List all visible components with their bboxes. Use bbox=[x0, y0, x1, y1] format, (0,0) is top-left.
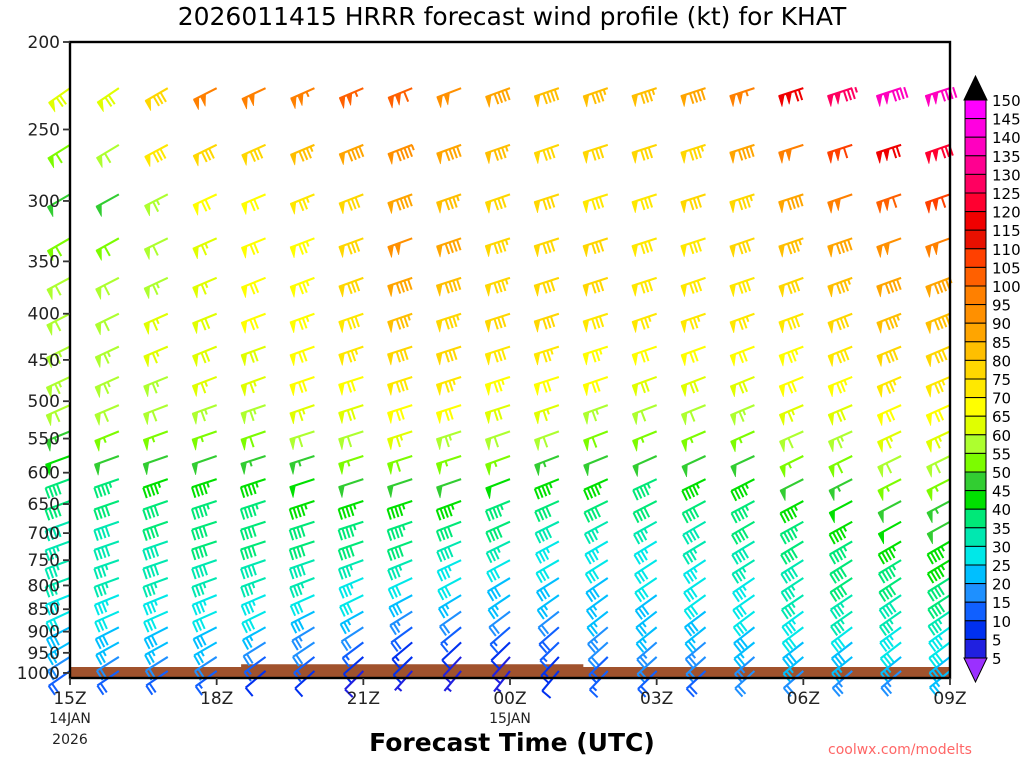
colorbar-tick-label: 145 bbox=[992, 111, 1021, 129]
pressure-tick-label: 600 bbox=[28, 464, 60, 484]
colorbar-tick-label: 85 bbox=[992, 334, 1011, 352]
colorbar-tick-label: 50 bbox=[992, 464, 1011, 482]
colorbar-tick-label: 80 bbox=[992, 352, 1011, 370]
wind-profile-chart: 2026011415 HRRR forecast wind profile (k… bbox=[0, 0, 1024, 768]
colorbar-tick-label: 15 bbox=[992, 594, 1011, 612]
pressure-tick-label: 900 bbox=[28, 623, 60, 643]
time-tick-label: 21Z bbox=[347, 689, 380, 709]
colorbar-tick-label: 150 bbox=[992, 92, 1021, 110]
colorbar-tick-label: 45 bbox=[992, 483, 1011, 501]
date-sub-label: 14JAN bbox=[49, 711, 91, 727]
pressure-tick-label: 300 bbox=[28, 192, 60, 212]
colorbar-tick-label: 25 bbox=[992, 557, 1011, 575]
wind-speed-colorbar: 1501451401351301251201151101051009590858… bbox=[964, 76, 1021, 682]
pressure-tick-label: 1000 bbox=[17, 664, 60, 684]
colorbar-tick-label: 5 bbox=[992, 650, 1002, 668]
colorbar-tick-label: 35 bbox=[992, 520, 1011, 538]
pressure-tick-label: 700 bbox=[28, 524, 60, 544]
colorbar-tick-label: 75 bbox=[992, 371, 1011, 389]
colorbar-tick-label: 115 bbox=[992, 222, 1021, 240]
time-tick-label: 03Z bbox=[640, 689, 673, 709]
colorbar-tick-label: 125 bbox=[992, 185, 1021, 203]
time-tick-label: 09Z bbox=[933, 689, 966, 709]
time-tick-label: 00Z bbox=[493, 689, 526, 709]
time-tick-label: 06Z bbox=[787, 689, 820, 709]
colorbar-tick-label: 130 bbox=[992, 166, 1021, 184]
colorbar-tick-label: 110 bbox=[992, 241, 1021, 259]
colorbar-tick-label: 55 bbox=[992, 445, 1011, 463]
colorbar-tick-label: 20 bbox=[992, 576, 1011, 594]
colorbar-tick-label: 140 bbox=[992, 129, 1021, 147]
pressure-tick-label: 650 bbox=[28, 495, 60, 515]
pressure-tick-label: 800 bbox=[28, 576, 60, 596]
colorbar-tick-label: 30 bbox=[992, 538, 1011, 556]
time-tick-label: 15Z bbox=[53, 689, 86, 709]
pressure-tick-label: 450 bbox=[28, 351, 60, 371]
colorbar-tick-label: 60 bbox=[992, 427, 1011, 445]
plot-area: 2002503003504004505005506006507007508008… bbox=[0, 0, 1024, 768]
colorbar-tick-label: 70 bbox=[992, 390, 1011, 408]
pressure-tick-label: 750 bbox=[28, 551, 60, 571]
colorbar-tick-label: 65 bbox=[992, 408, 1011, 426]
colorbar-tick-label: 120 bbox=[992, 204, 1021, 222]
colorbar-tick-label: 5 bbox=[992, 631, 1002, 649]
colorbar-tick-label: 135 bbox=[992, 148, 1021, 166]
colorbar-tick-label: 95 bbox=[992, 297, 1011, 315]
pressure-tick-label: 250 bbox=[28, 120, 60, 140]
pressure-tick-label: 950 bbox=[28, 644, 60, 664]
pressure-tick-label: 350 bbox=[28, 252, 60, 272]
date-sub-label: 15JAN bbox=[489, 711, 531, 727]
time-tick-label: 18Z bbox=[200, 689, 233, 709]
pressure-axis: 2002503003504004505005506006507007508008… bbox=[17, 33, 70, 684]
colorbar-tick-label: 90 bbox=[992, 315, 1011, 333]
colorbar-tick-label: 40 bbox=[992, 501, 1011, 519]
pressure-tick-label: 400 bbox=[28, 305, 60, 325]
pressure-tick-label: 500 bbox=[28, 392, 60, 412]
colorbar-tick-label: 10 bbox=[992, 613, 1011, 631]
pressure-tick-label: 550 bbox=[28, 430, 60, 450]
credit-watermark: coolwx.com/modelts bbox=[828, 742, 972, 758]
wind-barb-field bbox=[46, 87, 957, 698]
pressure-tick-label: 200 bbox=[28, 33, 60, 53]
colorbar-tick-label: 105 bbox=[992, 259, 1021, 277]
colorbar-tick-label: 100 bbox=[992, 278, 1021, 296]
pressure-tick-label: 850 bbox=[28, 600, 60, 620]
